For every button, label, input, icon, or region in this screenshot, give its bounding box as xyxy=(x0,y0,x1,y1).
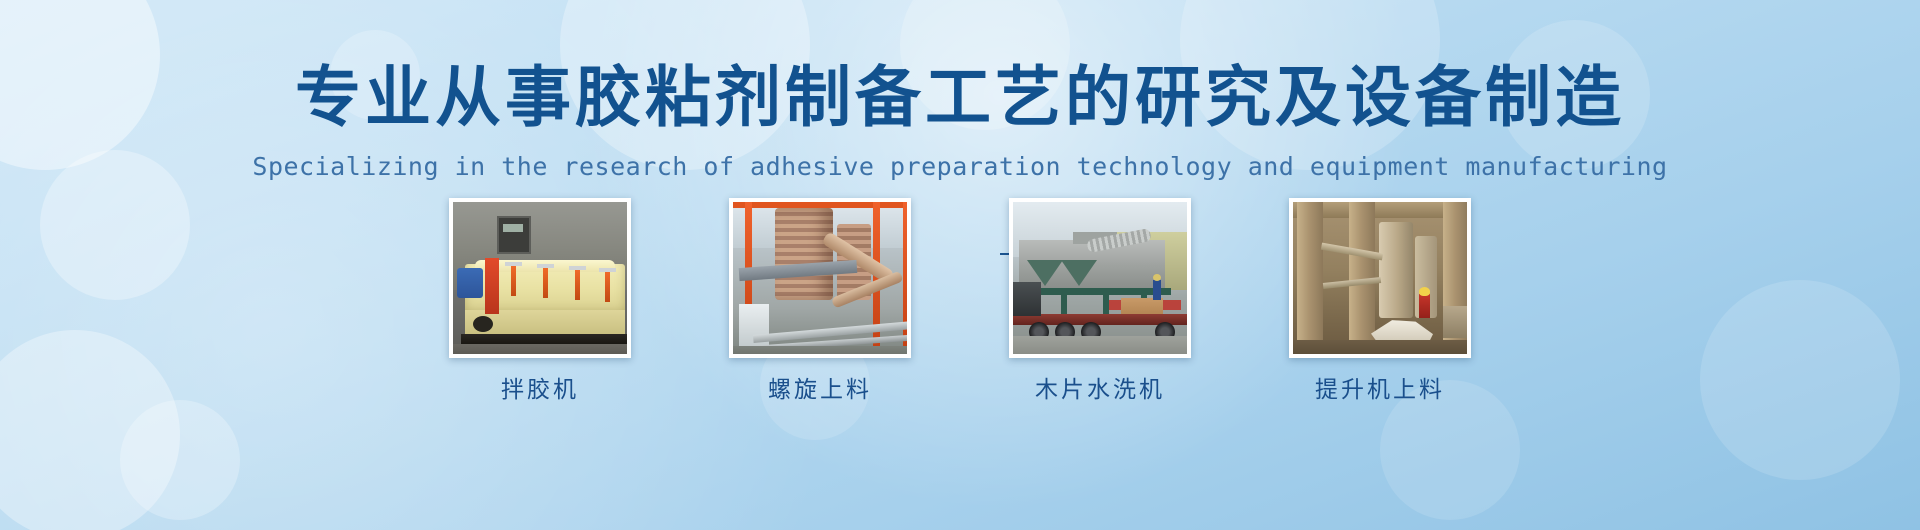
process-card-caption: 拌胶机 xyxy=(409,370,671,404)
banner-headline: 专业从事胶粘剂制备工艺的研究及设备制造 xyxy=(0,58,1920,136)
process-card[interactable]: 拌胶机 xyxy=(449,198,631,358)
process-card-caption: 提升机上料 xyxy=(1249,370,1511,404)
process-card-caption: 木片水洗机 xyxy=(969,370,1231,404)
process-card-row: 拌胶机 螺旋上料 xyxy=(0,198,1920,398)
wood-chip-washing-machine-photo[interactable] xyxy=(1009,198,1191,358)
process-card-caption: 螺旋上料 xyxy=(689,370,951,404)
promo-banner: 专业从事胶粘剂制备工艺的研究及设备制造 Specializing in the … xyxy=(0,0,1920,530)
banner-subtitle: Specializing in the research of adhesive… xyxy=(0,150,1920,184)
glue-mixer-machine-photo[interactable] xyxy=(449,198,631,358)
process-card[interactable]: 螺旋上料 xyxy=(729,198,911,358)
process-card[interactable]: 木片水洗机 xyxy=(1009,198,1191,358)
bucket-elevator-feeding-photo[interactable] xyxy=(1289,198,1471,358)
bokeh-circle xyxy=(120,400,240,520)
screw-conveyor-feeding-photo[interactable] xyxy=(729,198,911,358)
process-card[interactable]: 提升机上料 xyxy=(1289,198,1471,358)
